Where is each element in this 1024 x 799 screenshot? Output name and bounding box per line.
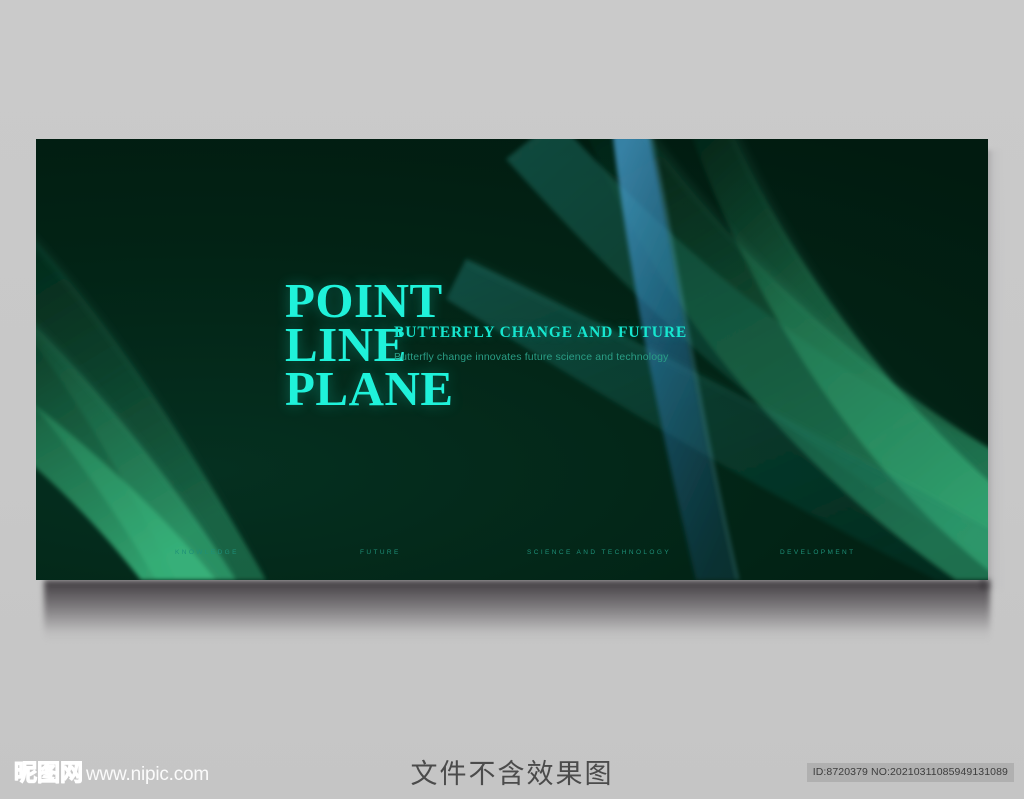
nav-item-knowledge[interactable]: KNOWLEDGE — [175, 549, 239, 556]
headline-text-block: POINT LINE PLANE BUTTERFLY CHANGE AND FU… — [285, 279, 454, 411]
banner-artwork: POINT LINE PLANE BUTTERFLY CHANGE AND FU… — [36, 139, 988, 580]
nav-item-future[interactable]: FUTURE — [360, 549, 401, 556]
watermark-bar: 昵图网 www.nipic.com 文件不含效果图 ID:8720379 NO:… — [0, 745, 1024, 799]
nav-item-science-and-technology[interactable]: SCIENCE AND TECHNOLOGY — [527, 549, 671, 556]
id-badge: ID:8720379 NO:20210311085949131089 — [807, 763, 1014, 782]
banner-drop-shadow — [44, 580, 990, 642]
nav-item-development[interactable]: DEVELOPMENT — [780, 549, 856, 556]
left-arc-group — [36, 199, 266, 580]
tagline: Butterfly change innovates future scienc… — [394, 351, 714, 363]
subhead-block: BUTTERFLY CHANGE AND FUTURE Butterfly ch… — [394, 324, 714, 363]
page-canvas: POINT LINE PLANE BUTTERFLY CHANGE AND FU… — [0, 0, 1024, 799]
subheadline: BUTTERFLY CHANGE AND FUTURE — [394, 324, 714, 342]
banner-nav: KNOWLEDGE FUTURE SCIENCE AND TECHNOLOGY … — [36, 549, 988, 569]
